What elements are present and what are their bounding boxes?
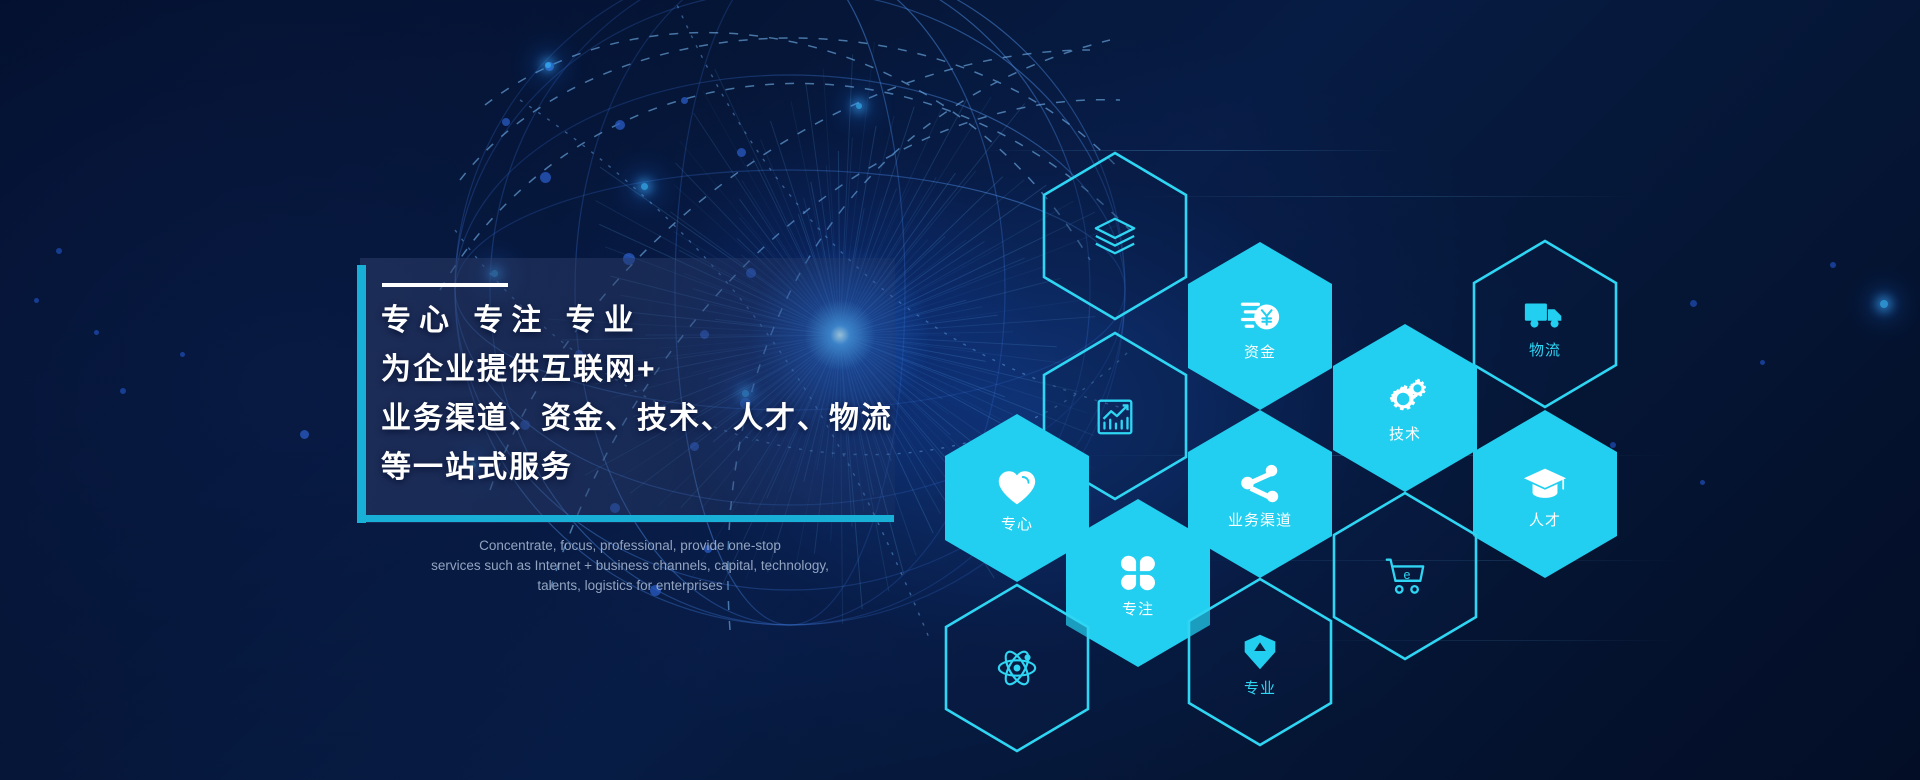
node-dot: [681, 97, 688, 104]
hex-label: 专心: [1001, 517, 1033, 532]
hex-label: 专注: [1122, 602, 1154, 617]
node-dot: [502, 118, 510, 126]
hex-ecommerce[interactable]: e: [1330, 490, 1480, 662]
node-dot: [120, 388, 126, 394]
panel-underline: [357, 515, 894, 522]
hex-layers[interactable]: [1040, 150, 1190, 322]
share-network-icon: [1237, 461, 1283, 507]
hexagon-cluster: 资金 物流: [0, 0, 1920, 780]
hex-label: 业务渠道: [1228, 513, 1292, 528]
growth-chart-icon: [1092, 393, 1138, 439]
hex-label: 技术: [1389, 427, 1421, 442]
hex-chart[interactable]: [1040, 330, 1190, 502]
node-dot: [1760, 360, 1765, 365]
node-dot-glow: [545, 62, 551, 68]
node-dot: [1610, 442, 1616, 448]
node-dot-glow: [1880, 300, 1888, 308]
node-dot: [180, 352, 185, 357]
node-dot: [56, 248, 62, 254]
hex-atom[interactable]: [942, 582, 1092, 754]
money-yen-icon: [1237, 293, 1283, 339]
node-dot: [1560, 520, 1565, 525]
hex-capital[interactable]: 资金: [1185, 240, 1335, 412]
hex-technology[interactable]: 技术: [1330, 322, 1480, 494]
headline-block: 专心 专注 专业 为企业提供互联网+ 业务渠道、资金、技术、人才、物流 等一站式…: [381, 296, 941, 492]
hex-label: 物流: [1529, 343, 1561, 358]
headline-rule: [382, 283, 508, 287]
banner-root: 专心 专注 专业 为企业提供互联网+ 业务渠道、资金、技术、人才、物流 等一站式…: [0, 0, 1920, 780]
layers-icon: [1092, 213, 1138, 259]
hex-professional[interactable]: 专业: [1185, 576, 1335, 748]
headline-line-3: 业务渠道、资金、技术、人才、物流: [381, 394, 941, 443]
background-decorations: [0, 0, 1920, 780]
node-dot: [300, 430, 309, 439]
hex-dedication[interactable]: 专心: [942, 412, 1092, 584]
hex-talents[interactable]: 人才: [1470, 408, 1620, 580]
subtitle-block: Concentrate, focus, professional, provid…: [360, 536, 900, 596]
svg-text:e: e: [1403, 568, 1410, 582]
node-dot: [540, 172, 551, 183]
subtitle-line-2: services such as Internet + business cha…: [360, 556, 900, 576]
node-dot: [1690, 300, 1697, 307]
panel-accent-bar: [357, 265, 366, 523]
node-dot-glow: [641, 183, 648, 190]
node-dot: [34, 298, 39, 303]
gears-icon: [1382, 375, 1428, 421]
node-dot: [737, 148, 746, 157]
graduation-cap-icon: [1522, 461, 1568, 507]
clover-icon: [1115, 550, 1161, 596]
hex-label: 专业: [1244, 681, 1276, 696]
hex-focus[interactable]: 专注: [1063, 497, 1213, 669]
node-dot: [545, 62, 554, 71]
diamond-gem-icon: [1237, 629, 1283, 675]
hex-label: 人才: [1529, 513, 1561, 528]
heart-icon: [994, 465, 1040, 511]
atom-icon: [994, 645, 1040, 691]
headline-line-1: 专心 专注 专业: [381, 296, 941, 345]
hex-logistics[interactable]: 物流: [1470, 238, 1620, 410]
hex-label: 资金: [1244, 345, 1276, 360]
node-dot: [615, 120, 625, 130]
subtitle-line-3: talents, logistics for enterprises: [360, 576, 900, 596]
node-dot-glow: [856, 103, 862, 109]
node-dot: [1700, 480, 1705, 485]
node-dot: [94, 330, 99, 335]
hex-business-channels[interactable]: 业务渠道: [1185, 408, 1335, 580]
subtitle-line-1: Concentrate, focus, professional, provid…: [360, 536, 900, 556]
truck-icon: [1522, 291, 1568, 337]
node-dot: [1830, 262, 1836, 268]
headline-line-4: 等一站式服务: [381, 443, 941, 492]
shopping-cart-e-icon: e: [1382, 553, 1428, 599]
headline-line-2: 为企业提供互联网+: [381, 345, 941, 394]
